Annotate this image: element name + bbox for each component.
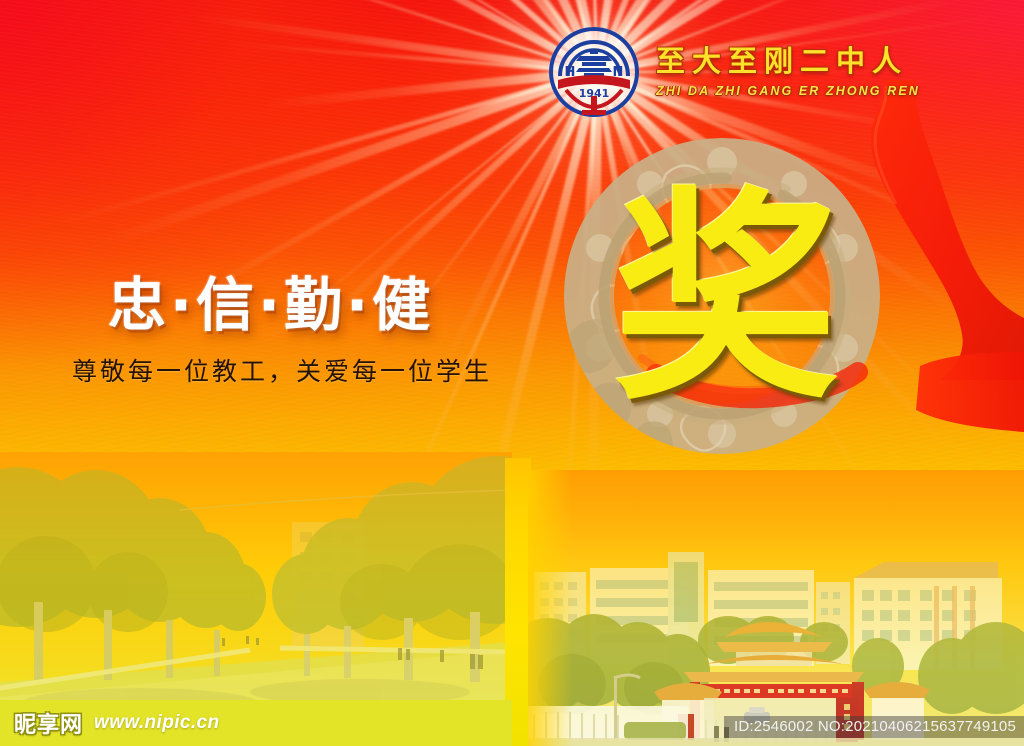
image-id-watermark: ID:2546002 NO:20210406215637749105 xyxy=(724,716,1024,738)
watermark-bar: 昵享网 www.nipic.cn xyxy=(0,700,512,746)
brand-header: H N 1941 至大至刚二中人 ZHI DA ZHI GANG ER ZHON… xyxy=(546,24,920,120)
main-slogan: 忠·信·勤·健 xyxy=(108,258,434,342)
emblem-year: 1941 xyxy=(579,87,610,100)
nipic-url: www.nipic.cn xyxy=(94,712,220,734)
brand-pinyin: ZHI DA ZHI GANG ER ZHONG REN xyxy=(656,84,920,98)
sub-slogan: 尊敬每一位教工，关爱每一位学生 xyxy=(72,352,492,388)
nipic-logo: 昵享网 xyxy=(14,707,83,739)
seal-character: 奖 xyxy=(542,124,910,476)
award-seal: 奖 xyxy=(538,122,906,474)
photo-campus-gate xyxy=(528,470,1024,746)
photo-campus-road xyxy=(0,452,512,722)
school-emblem-icon: H N 1941 xyxy=(546,24,642,120)
brand-text-block: 至大至刚二中人 ZHI DA ZHI GANG ER ZHONG REN xyxy=(656,46,920,98)
brand-title: 至大至刚二中人 xyxy=(656,46,908,78)
poster-canvas: 奖 H N xyxy=(0,0,1024,746)
